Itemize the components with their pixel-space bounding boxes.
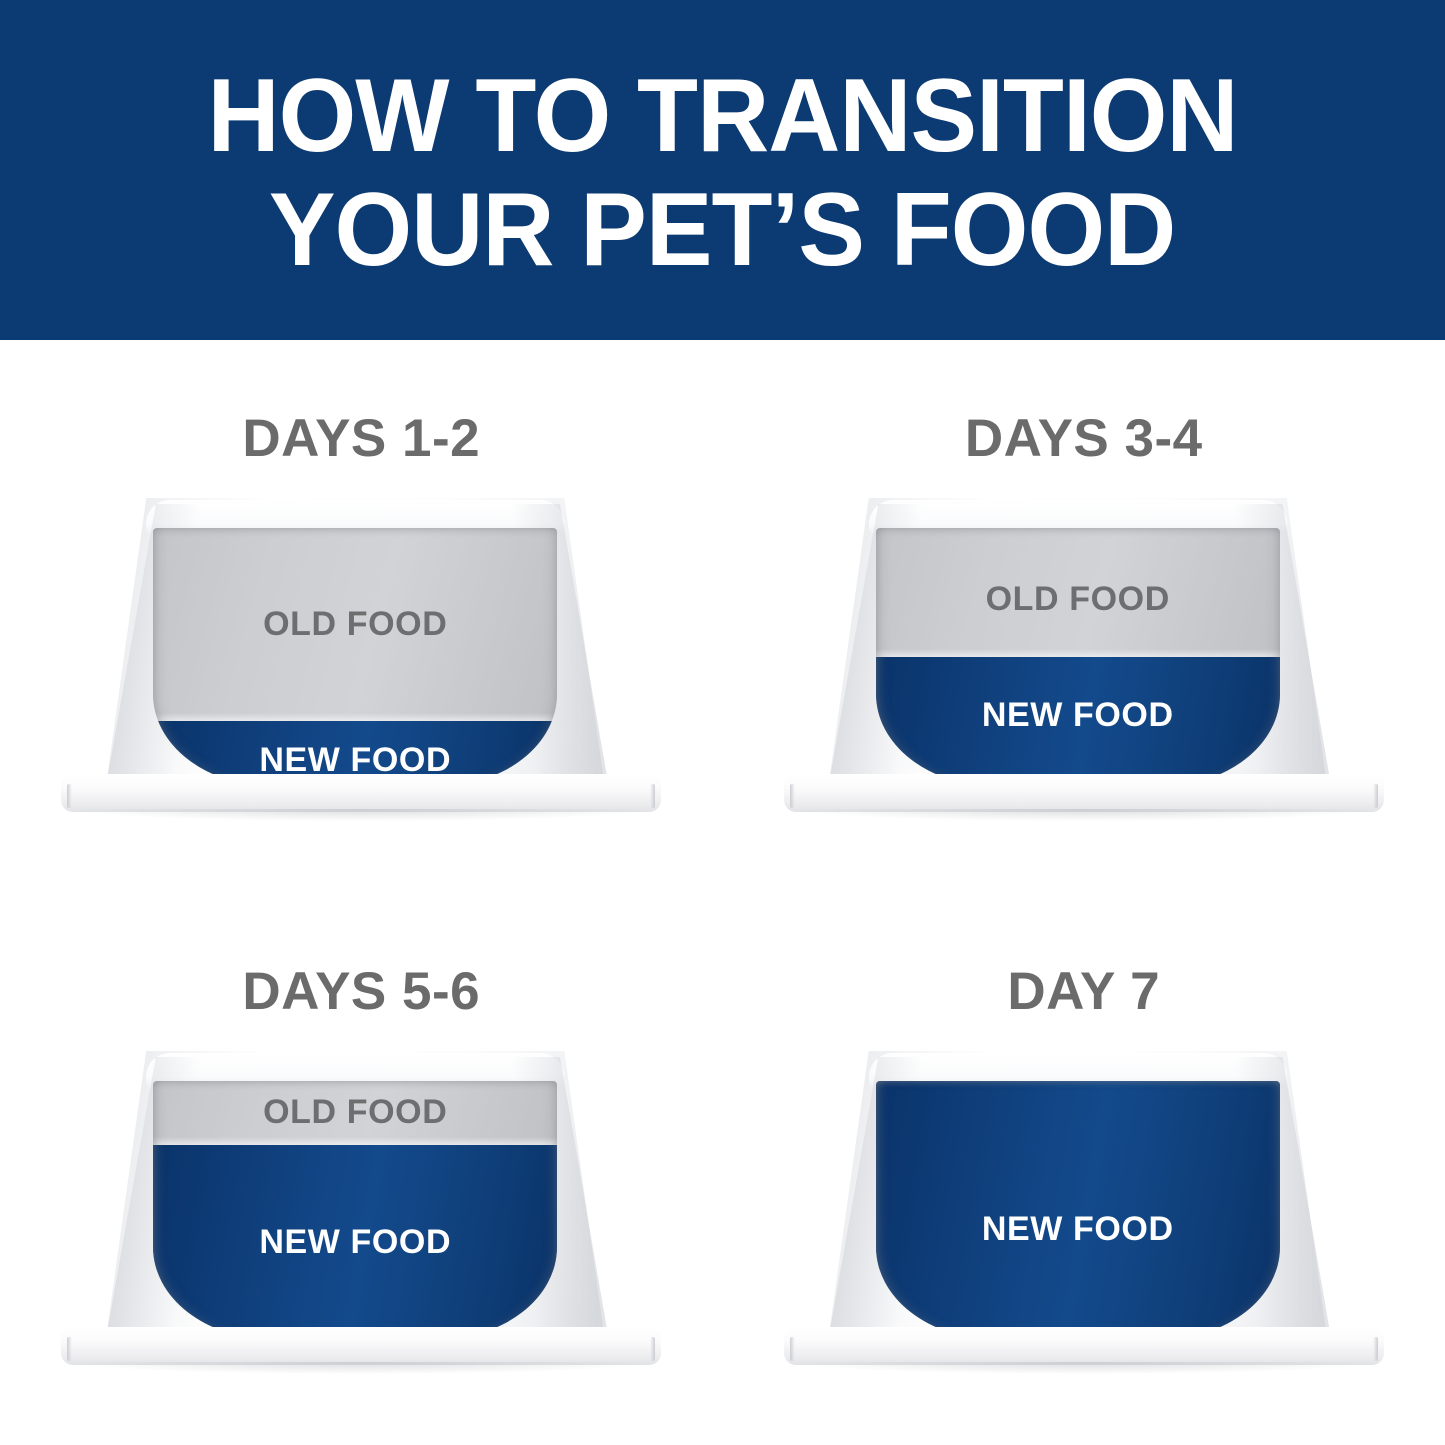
old-food-label-3: OLD FOOD	[153, 1093, 557, 1132]
bowl-base-1	[61, 774, 661, 812]
step-day-label-2: DAYS 3-4	[965, 412, 1203, 465]
bowl-base-4	[784, 1327, 1384, 1365]
transition-step-card-4: DAY 7 OLD FOOD NEW FOOD	[723, 893, 1445, 1445]
bowl-base-notch-left-3	[67, 1337, 72, 1361]
new-food-fill-2: NEW FOOD	[876, 657, 1280, 786]
new-food-fill-3: NEW FOOD	[153, 1145, 557, 1339]
page-title-line-1: HOW TO TRANSITION	[207, 64, 1237, 168]
old-food-label-2: OLD FOOD	[876, 580, 1280, 619]
bowl-base-notch-right-2	[1373, 784, 1378, 808]
old-food-fill-3: OLD FOOD	[153, 1081, 557, 1145]
transition-step-card-2: DAYS 3-4 OLD FOOD NEW FOOD	[723, 340, 1445, 893]
pet-food-bowl-2: OLD FOOD NEW FOOD	[776, 498, 1392, 818]
transition-step-card-1: DAYS 1-2 OLD FOOD NEW FOOD	[0, 340, 723, 893]
bowl-cavity-4: OLD FOOD NEW FOOD	[876, 1081, 1280, 1339]
bowl-base-notch-right-3	[650, 1337, 655, 1361]
step-day-label-3: DAYS 5-6	[242, 965, 480, 1018]
bowl-base-2	[784, 774, 1384, 812]
pet-food-bowl-3: OLD FOOD NEW FOOD	[53, 1051, 669, 1371]
old-food-fill-2: OLD FOOD	[876, 528, 1280, 657]
transition-step-card-3: DAYS 5-6 OLD FOOD NEW FOOD	[0, 893, 723, 1445]
bowl-base-3	[61, 1327, 661, 1365]
page-header: HOW TO TRANSITION YOUR PET’S FOOD	[0, 0, 1445, 340]
bowl-base-notch-right-1	[650, 784, 655, 808]
transition-steps-grid: DAYS 1-2 OLD FOOD NEW FOOD DAYS 3-4	[0, 340, 1445, 1445]
bowl-base-notch-left-1	[67, 784, 72, 808]
new-food-label-2: NEW FOOD	[876, 696, 1280, 735]
step-day-label-4: DAY 7	[1007, 965, 1160, 1018]
old-food-label-1: OLD FOOD	[153, 605, 557, 644]
step-day-label-1: DAYS 1-2	[242, 412, 480, 465]
old-food-fill-1: OLD FOOD	[153, 528, 557, 721]
bowl-base-notch-left-4	[790, 1337, 795, 1361]
bowl-cavity-2: OLD FOOD NEW FOOD	[876, 528, 1280, 786]
bowl-cavity-1: OLD FOOD NEW FOOD	[153, 528, 557, 786]
pet-food-bowl-4: OLD FOOD NEW FOOD	[776, 1051, 1392, 1371]
bowl-cavity-3: OLD FOOD NEW FOOD	[153, 1081, 557, 1339]
bowl-base-notch-left-2	[790, 784, 795, 808]
new-food-fill-4: NEW FOOD	[876, 1081, 1280, 1339]
new-food-label-3: NEW FOOD	[153, 1223, 557, 1262]
new-food-label-4: NEW FOOD	[876, 1210, 1280, 1249]
page-title-line-2: YOUR PET’S FOOD	[269, 178, 1175, 282]
pet-food-bowl-1: OLD FOOD NEW FOOD	[53, 498, 669, 818]
bowl-base-notch-right-4	[1373, 1337, 1378, 1361]
